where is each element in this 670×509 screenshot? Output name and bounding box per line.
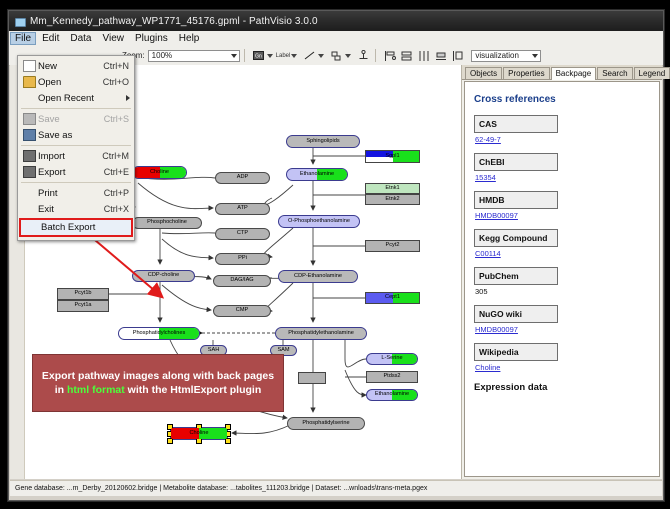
side-panel-tabs: Objects Properties Backpage Search Legen… xyxy=(462,65,662,80)
menu-item-label: Import xyxy=(38,151,102,162)
order-bring-front-icon[interactable] xyxy=(450,49,465,62)
distribute-icon[interactable] xyxy=(416,49,431,62)
menu-item-accel: Ctrl+X xyxy=(104,204,132,214)
menu-item-accel: Ctrl+O xyxy=(103,77,132,87)
chevron-right-icon xyxy=(126,95,130,101)
menu-data[interactable]: Data xyxy=(65,32,96,45)
label-tool-label[interactable]: Label xyxy=(276,53,291,59)
node-label: L-Serine xyxy=(381,356,402,362)
node-label: Sgpl1 xyxy=(385,154,399,160)
label-dropdown-icon[interactable] xyxy=(291,54,297,58)
backpage-content: Cross references CAS 62-49-7 ChEBI 15354… xyxy=(464,81,660,477)
node-label: ADP xyxy=(237,175,249,181)
db-label-nugo-wiki: NuGO wiki xyxy=(474,305,558,323)
node-label: CMP xyxy=(236,308,248,314)
node-label: Choline xyxy=(150,170,169,176)
node-ptdss2[interactable]: Ptdss2 xyxy=(366,371,418,383)
menu-item-print[interactable]: Print Ctrl+P xyxy=(18,185,134,201)
menu-item-label: Open xyxy=(38,77,103,88)
expression-data-heading: Expression data xyxy=(474,382,659,393)
menu-separator-3 xyxy=(21,182,131,183)
db-label-wikipedia: Wikipedia xyxy=(474,343,558,361)
node-sphingolipids[interactable]: Sphingolipids xyxy=(286,135,360,148)
menu-separator-1 xyxy=(21,108,131,109)
callout-highlight: html format xyxy=(67,384,125,396)
node-label: PPi xyxy=(238,256,247,262)
menu-item-accel: Ctrl+M xyxy=(102,151,132,161)
node-label: Etnk2 xyxy=(385,197,399,203)
cross-references-heading: Cross references xyxy=(474,94,659,105)
save-icon xyxy=(20,112,38,126)
menu-item-open-recent[interactable]: Open Recent xyxy=(18,90,134,106)
menu-item-label: Open Recent xyxy=(38,93,132,104)
node-phosphatidylethanolamine[interactable]: Phosphatidylethanolamine xyxy=(275,327,367,340)
node-ctp[interactable]: CTP xyxy=(215,228,270,240)
node-label: Cept1 xyxy=(385,295,400,301)
node-atp[interactable]: ATP xyxy=(215,203,270,215)
node-pcyt2[interactable]: Pcyt2 xyxy=(365,240,420,252)
node-cept1[interactable]: Cept1 xyxy=(365,292,420,304)
zoom-value: 100% xyxy=(152,51,172,60)
db-label-pubchem: PubChem xyxy=(474,267,558,285)
menu-separator-2 xyxy=(21,145,131,146)
node-label: DAG/IAG xyxy=(230,278,253,284)
menu-file[interactable]: File xyxy=(10,32,36,45)
node-choline-selected[interactable]: Choline xyxy=(170,427,228,440)
node-label: O-Phosphoethanolamine xyxy=(288,219,350,225)
stack-icon[interactable] xyxy=(399,49,414,62)
menu-item-accel: Ctrl+E xyxy=(104,167,132,177)
menu-item-label: Batch Export xyxy=(41,222,129,233)
tab-backpage[interactable]: Backpage xyxy=(551,67,597,80)
node-label: Pcyt1b xyxy=(74,291,91,297)
menu-view[interactable]: View xyxy=(97,32,129,45)
node-pcyt1a[interactable]: Pcyt1a xyxy=(57,300,109,312)
node-dag-iag[interactable]: DAG/IAG xyxy=(213,275,271,287)
node-cmp[interactable]: CMP xyxy=(213,305,271,317)
menu-item-label: New xyxy=(38,61,103,72)
import-icon xyxy=(20,149,38,163)
menu-gutter-empty-4 xyxy=(23,221,41,235)
node-phosphatidylcholines[interactable]: Phosphatidylcholines xyxy=(118,327,200,340)
datanode-icon[interactable]: Gn xyxy=(251,49,266,62)
menu-item-accel: Ctrl+N xyxy=(103,61,132,71)
node-pemt[interactable] xyxy=(298,372,326,384)
interaction-dropdown-icon[interactable] xyxy=(345,54,351,58)
node-choline-top[interactable]: Choline xyxy=(132,166,187,179)
menu-item-save-as[interactable]: Save as xyxy=(18,127,134,143)
node-label: Ptdss2 xyxy=(383,374,400,380)
node-label: Ethanolamine xyxy=(375,392,409,398)
node-cdp-ethanolamine[interactable]: CDP-Ethanolamine xyxy=(278,270,358,283)
chevron-down-icon-2 xyxy=(532,54,538,58)
menu-help[interactable]: Help xyxy=(174,32,205,45)
datanode-dropdown-icon[interactable] xyxy=(267,54,273,58)
node-cdp-choline[interactable]: CDP-choline xyxy=(132,270,195,282)
line-dropdown-icon[interactable] xyxy=(318,54,324,58)
node-label: Pcyt1a xyxy=(74,303,91,309)
db-label-hmdb: HMDB xyxy=(474,191,558,209)
node-label: Sphingolipids xyxy=(306,139,339,145)
order-send-back-icon[interactable] xyxy=(433,49,448,62)
file-menu-popup[interactable]: New Ctrl+N Open Ctrl+O Open Recent Save … xyxy=(17,55,135,241)
db-value-kegg-compound[interactable]: C00114 xyxy=(475,249,659,258)
db-value-wikipedia[interactable]: Choline xyxy=(475,363,659,372)
tab-search[interactable]: Search xyxy=(597,67,632,79)
visualization-combobox[interactable]: visualization xyxy=(471,50,541,62)
node-phosphatidylserine[interactable]: Phosphatidylserine xyxy=(287,417,365,430)
node-ethanolamine-right[interactable]: Ethanolamine xyxy=(366,389,418,401)
node-label: CTP xyxy=(237,231,248,237)
screenshot-root: Mm_Kennedy_pathway_WP1771_45176.gpml - P… xyxy=(0,0,670,509)
menu-item-batch-export[interactable]: Batch Export xyxy=(19,218,133,237)
app-icon xyxy=(14,16,25,27)
menu-gutter-empty-3 xyxy=(20,202,38,216)
new-document-icon xyxy=(20,59,38,73)
menu-plugins[interactable]: Plugins xyxy=(130,32,173,45)
node-label: Phosphocholine xyxy=(147,220,187,226)
zoom-combobox[interactable]: 100% xyxy=(148,50,240,62)
tab-objects[interactable]: Objects xyxy=(465,67,502,79)
status-bar: Gene database: ...m_Derby_20120602.bridg… xyxy=(10,480,662,496)
node-sgpl1[interactable]: Sgpl1 xyxy=(365,150,420,163)
menu-gutter-empty xyxy=(20,91,38,105)
db-value-pubchem: 305 xyxy=(475,287,659,296)
node-label: Phosphatidylcholines xyxy=(133,331,186,337)
line-icon[interactable] xyxy=(302,49,317,62)
status-bar-text: Gene database: ...m_Derby_20120602.bridg… xyxy=(15,485,427,492)
menu-item-label: Export xyxy=(38,167,104,178)
menu-item-accel: Ctrl+S xyxy=(104,114,132,124)
menu-bar: File Edit Data View Plugins Help xyxy=(9,31,663,47)
node-label: Pcyt2 xyxy=(386,243,400,249)
db-label-chebi: ChEBI xyxy=(474,153,558,171)
node-etnk2[interactable]: Etnk2 xyxy=(365,194,420,205)
node-etnk1[interactable]: Etnk1 xyxy=(365,183,420,194)
node-label: SAM xyxy=(277,348,289,354)
menu-item-label: Exit xyxy=(38,204,104,215)
db-label-cas: CAS xyxy=(474,115,558,133)
menu-item-label: Print xyxy=(38,188,104,199)
node-label: Phosphatidylethanolamine xyxy=(288,331,354,337)
toolbar-separator xyxy=(244,49,245,62)
tab-properties[interactable]: Properties xyxy=(503,67,549,79)
db-value-hmdb[interactable]: HMDB00097 xyxy=(475,211,659,220)
menu-item-label: Save as xyxy=(38,130,129,141)
node-l-serine[interactable]: L-Serine xyxy=(366,353,418,365)
interaction-icon[interactable] xyxy=(329,49,344,62)
save-as-icon xyxy=(20,128,38,142)
node-label: SAH xyxy=(208,348,220,354)
node-o-phosphoethanolamine[interactable]: O-Phosphoethanolamine xyxy=(278,215,360,228)
menu-item-new[interactable]: New Ctrl+N xyxy=(18,58,134,74)
node-label: CDP-Ethanolamine xyxy=(294,274,342,280)
db-value-nugo-wiki[interactable]: HMDB00097 xyxy=(475,325,659,334)
menu-item-exit[interactable]: Exit Ctrl+X xyxy=(18,201,134,217)
align-icon[interactable] xyxy=(382,49,397,62)
menu-edit[interactable]: Edit xyxy=(37,32,64,45)
export-icon xyxy=(20,165,38,179)
toolbar-separator-2 xyxy=(375,49,376,62)
visualization-value: visualization xyxy=(475,51,519,60)
node-pcyt1b[interactable]: Pcyt1b xyxy=(57,288,109,300)
side-panel: Objects Properties Backpage Search Legen… xyxy=(462,65,662,479)
db-value-cas[interactable]: 62-49-7 xyxy=(475,135,659,144)
node-label: Phosphatidylserine xyxy=(302,421,349,427)
node-label: Ethanolamine xyxy=(300,172,334,178)
window-title: Mm_Kennedy_pathway_WP1771_45176.gpml - P… xyxy=(30,16,318,27)
node-label: Etnk1 xyxy=(385,186,399,192)
title-bar: Mm_Kennedy_pathway_WP1771_45176.gpml - P… xyxy=(9,11,663,31)
node-label: ATP xyxy=(237,206,247,212)
node-ppi[interactable]: PPi xyxy=(215,253,270,265)
menu-gutter-empty-2 xyxy=(20,186,38,200)
chevron-down-icon xyxy=(231,54,237,58)
node-ethanolamine-top[interactable]: Ethanolamine xyxy=(286,168,348,181)
application-window: Mm_Kennedy_pathway_WP1771_45176.gpml - P… xyxy=(8,10,664,501)
node-label: CDP-choline xyxy=(148,273,179,279)
svg-text:Gn: Gn xyxy=(255,54,262,60)
menu-item-save: Save Ctrl+S xyxy=(18,111,134,127)
node-label: Choline xyxy=(190,431,209,437)
annotation-callout: Export pathway images along with back pa… xyxy=(32,354,284,412)
menu-item-export[interactable]: Export Ctrl+E xyxy=(18,164,134,180)
db-value-chebi[interactable]: 15354 xyxy=(475,173,659,182)
tab-legend[interactable]: Legend xyxy=(634,67,670,79)
anchor-icon[interactable] xyxy=(356,49,371,62)
db-label-kegg-compound: Kegg Compound xyxy=(474,229,558,247)
menu-item-open[interactable]: Open Ctrl+O xyxy=(18,74,134,90)
open-folder-icon xyxy=(20,75,38,89)
menu-item-import[interactable]: Import Ctrl+M xyxy=(18,148,134,164)
callout-text-part2: with the HtmlExport plugin xyxy=(125,384,262,396)
node-adp[interactable]: ADP xyxy=(215,172,270,184)
node-phosphocholine[interactable]: Phosphocholine xyxy=(132,217,202,229)
menu-item-label: Save xyxy=(38,114,104,125)
menu-item-accel: Ctrl+P xyxy=(104,188,132,198)
